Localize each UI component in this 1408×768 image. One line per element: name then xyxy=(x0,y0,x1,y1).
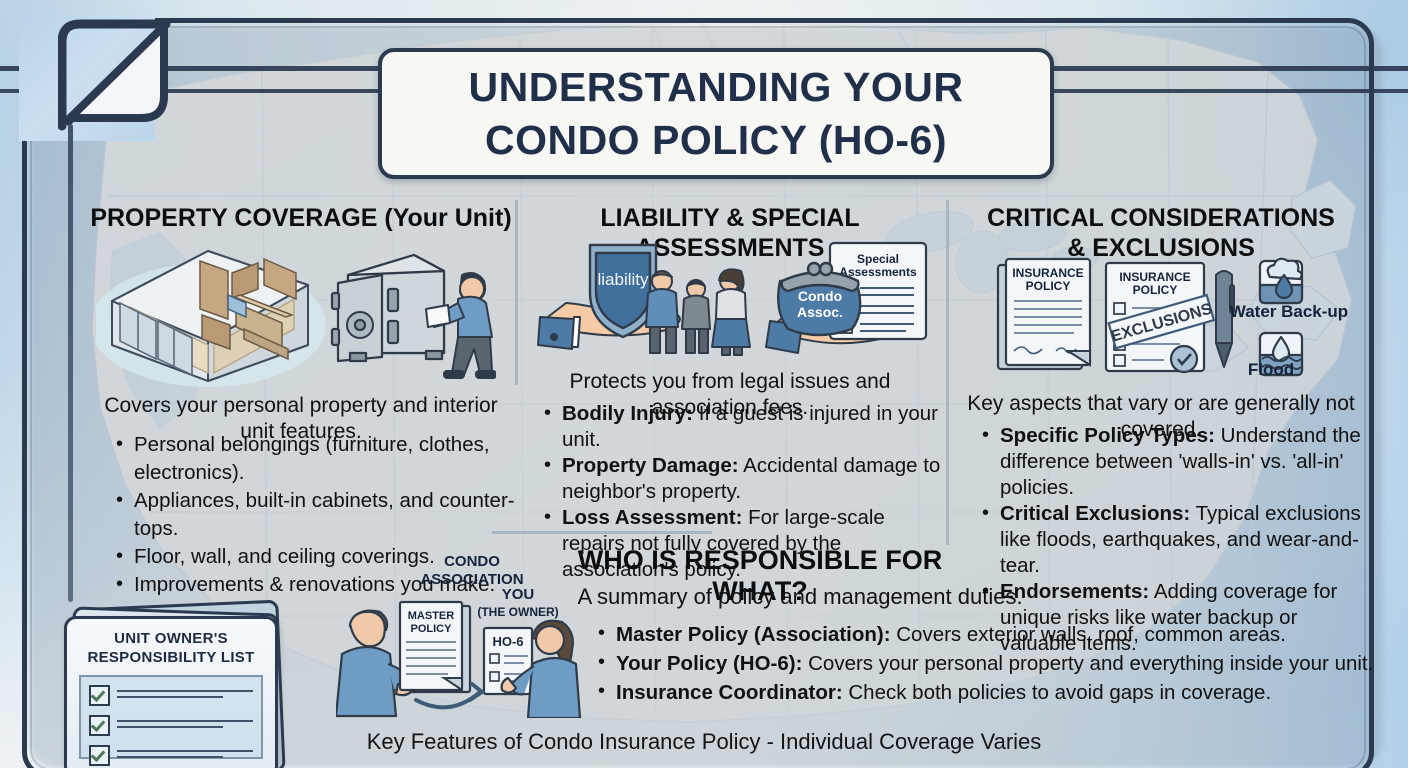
svg-text:POLICY: POLICY xyxy=(411,623,453,635)
illustration-unit-interior-and-safe xyxy=(96,233,496,388)
divider-middle-right xyxy=(946,200,949,545)
you-owner-line1: YOU xyxy=(502,586,535,603)
svg-text:INSURANCE: INSURANCE xyxy=(1119,270,1190,284)
svg-text:HO-6: HO-6 xyxy=(492,634,523,649)
bullet-bold: Insurance Coordinator: xyxy=(616,681,843,704)
bullet-bold: Critical Exclusions: xyxy=(1000,502,1190,525)
bullet-bold: Loss Assessment: xyxy=(562,506,742,529)
page-title: UNDERSTANDING YOUR CONDO POLICY (HO-6) xyxy=(378,48,1054,179)
list-item: Critical Exclusions: Typical exclusions … xyxy=(980,501,1374,579)
svg-text:POLICY: POLICY xyxy=(1133,283,1178,297)
column-property-coverage: PROPERTY COVERAGE (Your Unit) xyxy=(86,203,516,233)
list-item: Personal belongings (furniture, clothes,… xyxy=(114,431,526,487)
bullet-text: Check both policies to avoid gaps in cov… xyxy=(848,681,1271,704)
svg-text:INSURANCE: INSURANCE xyxy=(1012,266,1083,280)
bullet-text: Floor, wall, and ceiling coverings. xyxy=(134,545,435,568)
illustration-liability-and-assessments: liability Spec xyxy=(534,237,934,367)
you-owner-line2: (THE OWNER) xyxy=(477,605,558,619)
infographic-root: UNDERSTANDING YOUR CONDO POLICY (HO-6) P… xyxy=(0,0,1408,768)
list-item: Appliances, built-in cabinets, and count… xyxy=(114,487,526,543)
column-critical-considerations-heading-line1: CRITICAL CONSIDERATIONS xyxy=(956,203,1366,233)
svg-text:POLICY: POLICY xyxy=(1026,279,1071,293)
page-curl-icon xyxy=(58,18,174,134)
water-backup-label: Water Back-up xyxy=(1214,303,1364,321)
svg-text:MASTER: MASTER xyxy=(408,610,455,622)
footer-caption: Key Features of Condo Insurance Policy -… xyxy=(0,729,1408,755)
bottom-section-lead: A summary of policy and management dutie… xyxy=(575,584,1025,610)
svg-text:Special: Special xyxy=(857,252,899,266)
liability-shield-label: liability xyxy=(597,270,649,289)
bullet-text: Personal belongings (furniture, clothes,… xyxy=(134,433,490,484)
bullet-text: Covers your personal property and everyt… xyxy=(808,652,1373,675)
bullet-bold: Master Policy (Association): xyxy=(616,623,891,646)
bullet-bold: Bodily Injury: xyxy=(562,402,693,425)
bullet-text: Covers exterior walls, roof, common area… xyxy=(896,623,1286,646)
svg-text:Assoc.: Assoc. xyxy=(797,304,843,320)
left-accent-rule xyxy=(68,124,73,602)
condo-association-line1: CONDO xyxy=(444,553,500,570)
bullet-bold: Your Policy (HO-6): xyxy=(616,652,802,675)
column-liability-assessments: LIABILITY & SPECIAL ASSESSMENTS liabilit… xyxy=(518,203,942,263)
list-item: Insurance Coordinator: Check both polici… xyxy=(596,678,1386,707)
flood-label: Flood xyxy=(1226,361,1316,379)
page-title-line1: UNDERSTANDING YOUR xyxy=(469,61,964,114)
checklist-card-title: UNIT OWNER'S RESPONSIBILITY LIST xyxy=(67,629,275,667)
list-item: Specific Policy Types: Understand the di… xyxy=(980,423,1374,501)
list-item: Property Damage: Accidental damage to ne… xyxy=(542,453,946,505)
bullet-bold: Specific Policy Types: xyxy=(1000,424,1215,447)
list-item: Master Policy (Association): Covers exte… xyxy=(596,620,1386,649)
bullet-bold: Property Damage: xyxy=(562,454,739,477)
checklist-title-line1: UNIT OWNER'S xyxy=(114,630,228,647)
checklist-title-line2: RESPONSIBILITY LIST xyxy=(87,649,254,666)
condo-association-label: CONDO ASSOCIATION xyxy=(404,553,540,589)
bottom-section-bullets: Master Policy (Association): Covers exte… xyxy=(596,620,1386,707)
checkbox-checked-icon xyxy=(89,685,110,706)
bullet-text: Appliances, built-in cabinets, and count… xyxy=(134,489,515,540)
checklist-row xyxy=(89,685,253,706)
column-critical-considerations: CRITICAL CONSIDERATIONS & EXCLUSIONS INS… xyxy=(956,203,1366,263)
list-item: Bodily Injury: If a guest is injured in … xyxy=(542,401,946,453)
column-property-coverage-heading: PROPERTY COVERAGE (Your Unit) xyxy=(86,203,516,233)
list-item: Your Policy (HO-6): Covers your personal… xyxy=(596,649,1386,678)
page-title-line2: CONDO POLICY (HO-6) xyxy=(485,114,947,167)
svg-text:Condo: Condo xyxy=(798,288,842,304)
checklist-row-lines xyxy=(117,690,253,702)
